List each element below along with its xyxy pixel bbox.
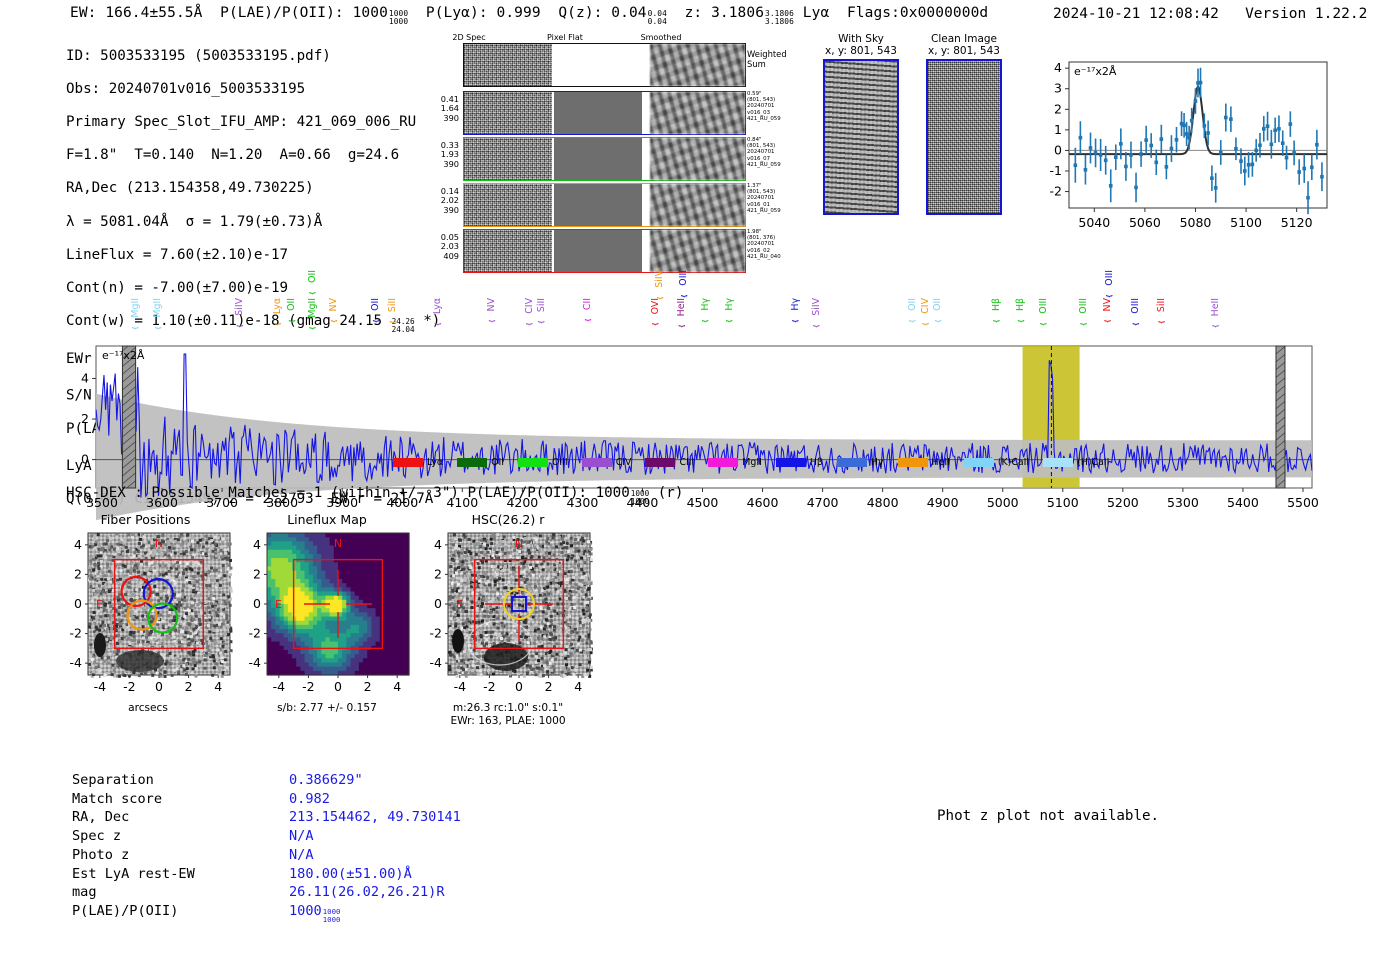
legend-label: (H)CaII bbox=[1077, 457, 1109, 468]
emission-line-zoom-plot: -2-10123450405060508051005120e⁻¹⁷x2Å bbox=[1035, 48, 1335, 248]
clean-image-title: Clean Image bbox=[923, 33, 1005, 45]
svg-text:2: 2 bbox=[253, 566, 261, 581]
table-value: 0.386629" bbox=[289, 772, 461, 789]
with-sky-subtitle: x, y: 801, 543 bbox=[820, 45, 902, 57]
legend-label: OIII bbox=[552, 457, 568, 468]
header-plae-value: 1000 bbox=[353, 5, 388, 21]
legend-label: Lyα bbox=[427, 457, 443, 468]
hsc-dex-text: HSC-DEX : Possible Matches = 1 (within +… bbox=[66, 485, 630, 501]
svg-text:4: 4 bbox=[393, 679, 401, 694]
header-plae-lo: 1000 bbox=[389, 18, 408, 26]
header-ew: EW: 166.4±55.5Å bbox=[70, 5, 202, 21]
svg-text:4: 4 bbox=[81, 370, 89, 385]
svg-text:0: 0 bbox=[434, 596, 442, 611]
emission-label-oii-6: OII⏟ bbox=[308, 270, 317, 292]
emission-label-oiii-28: OIII⏟ bbox=[1039, 298, 1048, 323]
table-key: Spec z bbox=[72, 828, 287, 845]
header-plya: P(Lyα): 0.999 bbox=[426, 5, 541, 21]
svg-text:e⁻¹⁷x2Å: e⁻¹⁷x2Å bbox=[1074, 65, 1117, 78]
emission-label-siii-9: SiII⏟ bbox=[388, 298, 397, 321]
info-line-lambda: λ = 5081.04Å σ = 1.79(±0.73)Å bbox=[66, 214, 440, 231]
emission-label-civ-12: CIV⏟ bbox=[525, 298, 534, 323]
legend-item-hcaii: (H)CaII bbox=[1043, 452, 1109, 471]
table-row: RA, Dec213.154462, 49.730141 bbox=[72, 809, 461, 826]
emission-label-mgii-0: MgII⏟ bbox=[131, 298, 140, 327]
emission-label-nv-30: NV⏟ bbox=[1103, 298, 1112, 320]
fiber-row-1-image bbox=[463, 137, 746, 181]
svg-text:4: 4 bbox=[74, 537, 82, 552]
legend-item-mgii: MgII bbox=[708, 452, 762, 471]
svg-text:-2: -2 bbox=[70, 626, 82, 641]
match-table: Separation0.386629"Match score0.982RA, D… bbox=[70, 770, 463, 925]
legend-item-hβ: Hβ bbox=[776, 452, 823, 471]
legend-label: Hγ bbox=[871, 457, 884, 468]
svg-text:4: 4 bbox=[214, 679, 222, 694]
legend-item-hγ: Hγ bbox=[837, 452, 884, 471]
cutout-2-caption2: EWr: 163, PLAE: 1000 bbox=[418, 715, 598, 728]
legend-item-kcaii: (K)CaII bbox=[964, 452, 1029, 471]
montage-col-title-2dspec: 2D Spec bbox=[425, 33, 513, 42]
fiber-row-0-left-labels: 0.41 1.64 390 bbox=[425, 95, 459, 123]
svg-text:-4: -4 bbox=[430, 655, 443, 670]
with-sky-title: With Sky bbox=[820, 33, 902, 45]
spectrum-legend: LyαOIIOIIICIVCIIIMgIIHβHγHeII(K)CaII(H)C… bbox=[393, 452, 1123, 471]
clean-image-panel: Clean Image x, y: 801, 543 bbox=[923, 33, 1005, 215]
svg-text:-1: -1 bbox=[1050, 163, 1062, 178]
table-key: P(LAE)/P(OII) bbox=[72, 903, 287, 923]
info-line-primary-spec: Primary Spec_Slot_IFU_AMP: 421_069_006_R… bbox=[66, 114, 440, 131]
svg-text:5500: 5500 bbox=[1287, 495, 1319, 510]
fiber-row-3-image bbox=[463, 229, 746, 273]
emission-label-nv-7: NV⏟ bbox=[329, 298, 338, 320]
dex-band: (r) bbox=[658, 485, 684, 501]
fiber-row-3-info: 1.98" (801, 376) 20240701 v016_02 421_RU… bbox=[747, 229, 781, 260]
legend-label: Hβ bbox=[810, 457, 823, 468]
table-value: N/A bbox=[289, 847, 461, 864]
legend-item-oii: OII bbox=[457, 452, 504, 471]
legend-label: CIV bbox=[616, 457, 632, 468]
svg-text:N: N bbox=[155, 537, 163, 550]
svg-text:E: E bbox=[96, 598, 103, 611]
svg-text:-2: -2 bbox=[123, 679, 135, 694]
emission-label-nv-11: NV⏟ bbox=[487, 298, 496, 320]
table-key: Photo z bbox=[72, 847, 287, 864]
legend-swatch bbox=[518, 458, 548, 467]
table-value: 26.11(26.02,26.21)R bbox=[289, 884, 461, 901]
svg-text:1: 1 bbox=[1054, 122, 1062, 137]
table-key: Match score bbox=[72, 791, 287, 808]
legend-label: HeII bbox=[932, 457, 950, 468]
legend-label: OII bbox=[491, 457, 504, 468]
info-line-id: ID: 5003533195 (5003533195.pdf) bbox=[66, 48, 440, 65]
emission-label-lyα-10: Lyα⏟ bbox=[433, 298, 442, 323]
svg-text:5040: 5040 bbox=[1078, 215, 1110, 230]
fiber-row-0-image bbox=[463, 91, 746, 135]
info-line-lineflux: LineFlux = 7.60(±2.10)e-17 bbox=[66, 247, 440, 264]
svg-text:0: 0 bbox=[155, 679, 163, 694]
legend-swatch bbox=[837, 458, 867, 467]
version-label: Version 1.22.2 bbox=[1245, 6, 1367, 22]
svg-text:-2: -2 bbox=[430, 626, 442, 641]
emission-label-oiii-18: OIII⏟ bbox=[679, 270, 688, 295]
emission-label-siii-33: SiII⏟ bbox=[1157, 298, 1166, 321]
table-key: mag bbox=[72, 884, 287, 901]
table-key: RA, Dec bbox=[72, 809, 287, 826]
photz-message: Phot z plot not available. bbox=[937, 808, 1159, 824]
cutout-0-xlabel: arcsecs bbox=[58, 702, 238, 715]
emission-label-oii-4: OII⏟ bbox=[287, 298, 296, 320]
legend-item-lyα: Lyα bbox=[393, 452, 443, 471]
cutout-2-xlabel: m:26.3 rc:1.0" s:0.1" bbox=[418, 702, 598, 715]
svg-text:0: 0 bbox=[1054, 142, 1062, 157]
cutout-1-title: Lineflux Map bbox=[237, 512, 417, 527]
svg-text:4700: 4700 bbox=[807, 495, 839, 510]
info-line-radec: RA,Dec (213.154358,49.730225) bbox=[66, 180, 440, 197]
svg-text:5100: 5100 bbox=[1047, 495, 1079, 510]
emission-label-hγ-21: Hγ⏟ bbox=[791, 298, 800, 320]
emission-label-heii-34: HeII⏟ bbox=[1211, 298, 1220, 325]
svg-text:4900: 4900 bbox=[927, 495, 959, 510]
svg-text:5100: 5100 bbox=[1230, 215, 1262, 230]
svg-text:5060: 5060 bbox=[1129, 215, 1161, 230]
svg-text:-2: -2 bbox=[483, 679, 495, 694]
header-qz-lo: 0.04 bbox=[648, 18, 667, 26]
weighted-sum-label: Weighted Sum bbox=[747, 49, 787, 69]
emission-label-civ-24: CIV⏟ bbox=[921, 298, 930, 323]
svg-text:4: 4 bbox=[1054, 60, 1062, 75]
svg-text:5400: 5400 bbox=[1227, 495, 1259, 510]
table-key: Est LyA rest-EW bbox=[72, 866, 287, 883]
svg-text:-2: -2 bbox=[1050, 184, 1062, 199]
summary-header: EW: 166.4±55.5Å P(LAE)/P(OII): 100010001… bbox=[70, 5, 988, 26]
emission-label-cii-14: CII⏟ bbox=[583, 298, 592, 319]
dex-plae-lo: 1000 bbox=[631, 498, 649, 506]
emission-label-siiv-16: SiIV⏟ bbox=[655, 270, 664, 297]
emission-label-siiv-2: SiIV⏟ bbox=[235, 298, 244, 325]
emission-label-oii-25: OII⏟ bbox=[933, 298, 942, 320]
svg-text:-4: -4 bbox=[249, 655, 262, 670]
with-sky-panel: With Sky x, y: 801, 543 bbox=[820, 33, 902, 215]
svg-text:E: E bbox=[456, 598, 463, 611]
svg-text:E: E bbox=[275, 598, 282, 611]
emission-label-hβ-27: Hβ⏟ bbox=[1016, 298, 1025, 320]
svg-text:3: 3 bbox=[1054, 81, 1062, 96]
montage-col-title-smoothed: Smoothed bbox=[617, 33, 705, 42]
svg-text:0: 0 bbox=[515, 679, 523, 694]
emission-label-hβ-26: Hβ⏟ bbox=[992, 298, 1001, 320]
table-value: 100010001000 bbox=[289, 903, 461, 923]
svg-text:N: N bbox=[334, 537, 342, 550]
legend-swatch bbox=[776, 458, 806, 467]
emission-label-siiv-22: SiIV⏟ bbox=[812, 298, 821, 325]
clean-image-cutout bbox=[926, 59, 1002, 215]
header-z: z: 3.1806 bbox=[685, 5, 764, 21]
montage-col-title-pixelflat: Pixel Flat bbox=[521, 33, 609, 42]
svg-text:2: 2 bbox=[1054, 101, 1062, 116]
svg-text:N: N bbox=[515, 537, 523, 550]
legend-swatch bbox=[645, 458, 675, 467]
legend-label: CIII bbox=[679, 457, 694, 468]
svg-text:4: 4 bbox=[574, 679, 582, 694]
emission-label-hγ-19: Hγ⏟ bbox=[701, 298, 710, 320]
svg-text:4800: 4800 bbox=[867, 495, 899, 510]
emission-label-ovi-15: OVI⏟ bbox=[651, 298, 660, 323]
svg-text:4: 4 bbox=[434, 537, 442, 552]
svg-text:5300: 5300 bbox=[1167, 495, 1199, 510]
legend-swatch bbox=[898, 458, 928, 467]
legend-item-civ: CIV bbox=[582, 452, 632, 471]
fiber-row-1-left-labels: 0.33 1.93 390 bbox=[425, 141, 459, 169]
emission-label-siii-13: SiII⏟ bbox=[537, 298, 546, 321]
svg-text:0: 0 bbox=[74, 596, 82, 611]
header-plae-label: P(LAE)/P(OII): bbox=[220, 5, 344, 21]
svg-text:-2: -2 bbox=[249, 626, 261, 641]
svg-text:0: 0 bbox=[81, 452, 89, 467]
weighted-sum-row bbox=[463, 43, 746, 87]
svg-text:e⁻¹⁷x2Å: e⁻¹⁷x2Å bbox=[102, 349, 145, 362]
fiber-row-2-image bbox=[463, 183, 746, 227]
svg-text:2: 2 bbox=[81, 411, 89, 426]
legend-item-ciii: CIII bbox=[645, 452, 694, 471]
svg-text:-4: -4 bbox=[273, 679, 286, 694]
svg-text:5080: 5080 bbox=[1180, 215, 1212, 230]
legend-item-heii: HeII bbox=[898, 452, 950, 471]
svg-text:2: 2 bbox=[185, 679, 193, 694]
svg-text:5200: 5200 bbox=[1107, 495, 1139, 510]
table-row: Est LyA rest-EW180.00(±51.00)Å bbox=[72, 866, 461, 883]
svg-text:2: 2 bbox=[364, 679, 372, 694]
table-value: 180.00(±51.00)Å bbox=[289, 866, 461, 883]
emission-label-heii-17: HeII⏟ bbox=[677, 298, 686, 325]
svg-text:2: 2 bbox=[74, 566, 82, 581]
cutout-0-title: Fiber Positions bbox=[58, 512, 233, 527]
svg-text:0: 0 bbox=[253, 596, 261, 611]
table-row: Spec zN/A bbox=[72, 828, 461, 845]
emission-label-oii-23: OII⏟ bbox=[908, 298, 917, 320]
legend-label: MgII bbox=[742, 457, 762, 468]
twod-spectrum-montage: 2D Spec Pixel Flat Smoothed Weighted Sum… bbox=[425, 33, 755, 248]
legend-swatch bbox=[457, 458, 487, 467]
cutout-fiber-positions: Fiber Positions -4-4-2-2002244NE arcsecs bbox=[58, 512, 238, 715]
cutout-2-title: HSC(26.2) r bbox=[418, 512, 598, 527]
svg-text:2: 2 bbox=[545, 679, 553, 694]
with-sky-image bbox=[823, 59, 899, 215]
svg-text:5120: 5120 bbox=[1281, 215, 1313, 230]
svg-text:0: 0 bbox=[334, 679, 342, 694]
emission-label-oii-8: OII⏟ bbox=[371, 298, 380, 320]
legend-swatch bbox=[1043, 458, 1073, 467]
info-line-seeing: F=1.8" T=0.140 N=1.20 A=0.66 g=24.6 bbox=[66, 147, 440, 164]
header-flags: Flags:0x0000000d bbox=[847, 5, 988, 21]
svg-text:4600: 4600 bbox=[747, 495, 779, 510]
emission-label-mgii-5: MgII⏟ bbox=[308, 298, 317, 327]
emission-label-oiii-31: OIII⏟ bbox=[1105, 270, 1114, 295]
svg-text:-4: -4 bbox=[70, 655, 83, 670]
table-key: Separation bbox=[72, 772, 287, 789]
svg-text:-2: -2 bbox=[302, 679, 314, 694]
emission-label-lyα-3: Lyα⏟ bbox=[273, 298, 282, 323]
header-line-name: Lyα bbox=[803, 5, 830, 21]
info-line-obs: Obs: 20240701v016_5003533195 bbox=[66, 81, 440, 98]
header-z-lo: 3.1806 bbox=[765, 18, 794, 26]
legend-item-oiii: OIII bbox=[518, 452, 568, 471]
legend-swatch bbox=[582, 458, 612, 467]
cutout-hsc-r: HSC(26.2) r -4-4-2-2002244NE m:26.3 rc:1… bbox=[418, 512, 598, 727]
fiber-row-3-left-labels: 0.05 2.03 409 bbox=[425, 233, 459, 261]
svg-text:2: 2 bbox=[434, 566, 442, 581]
fiber-row-2-info: 1.37" (801, 543) 20240701 v016_01 421_RU… bbox=[747, 183, 781, 214]
emission-label-oiii-29: OIII⏟ bbox=[1079, 298, 1088, 323]
emission-label-hγ-20: Hγ⏟ bbox=[725, 298, 734, 320]
table-row: mag26.11(26.02,26.21)R bbox=[72, 884, 461, 901]
hsc-dex-summary: HSC-DEX : Possible Matches = 1 (within +… bbox=[66, 485, 683, 506]
table-value: 0.982 bbox=[289, 791, 461, 808]
svg-text:4500: 4500 bbox=[687, 495, 719, 510]
table-row: Separation0.386629" bbox=[72, 772, 461, 789]
svg-text:-4: -4 bbox=[94, 679, 107, 694]
cutout-1-xlabel: s/b: 2.77 +/- 0.157 bbox=[237, 702, 417, 715]
legend-swatch bbox=[964, 458, 994, 467]
fiber-row-1-info: 0.84" (801, 543) 20240701 v016_07 421_RU… bbox=[747, 137, 781, 168]
svg-text:5000: 5000 bbox=[987, 495, 1019, 510]
timestamp: 2024-10-21 12:08:42 bbox=[1053, 6, 1219, 22]
svg-text:4: 4 bbox=[253, 537, 261, 552]
table-row: Photo zN/A bbox=[72, 847, 461, 864]
emission-label-oiii-32: OIII⏟ bbox=[1131, 298, 1140, 323]
table-value: 213.154462, 49.730141 bbox=[289, 809, 461, 826]
legend-swatch bbox=[393, 458, 423, 467]
fiber-row-0-info: 0.59" (801, 543) 20240701 v016_03 421_RU… bbox=[747, 91, 781, 122]
legend-label: (K)CaII bbox=[998, 457, 1029, 468]
header-qz: Q(z): 0.04 bbox=[558, 5, 646, 21]
legend-swatch bbox=[708, 458, 738, 467]
fiber-row-2-left-labels: 0.14 2.02 390 bbox=[425, 187, 459, 215]
table-row: P(LAE)/P(OII)100010001000 bbox=[72, 903, 461, 923]
table-row: Match score0.982 bbox=[72, 791, 461, 808]
clean-image-subtitle: x, y: 801, 543 bbox=[923, 45, 1005, 57]
emission-label-mgii-1: MgII⏟ bbox=[153, 298, 162, 327]
header-timestamp-version: 2024-10-21 12:08:42 Version 1.22.2 bbox=[1053, 6, 1367, 22]
svg-text:-4: -4 bbox=[454, 679, 467, 694]
cutout-lineflux-map: Lineflux Map -4-4-2-2002244NE s/b: 2.77 … bbox=[237, 512, 417, 715]
table-value: N/A bbox=[289, 828, 461, 845]
